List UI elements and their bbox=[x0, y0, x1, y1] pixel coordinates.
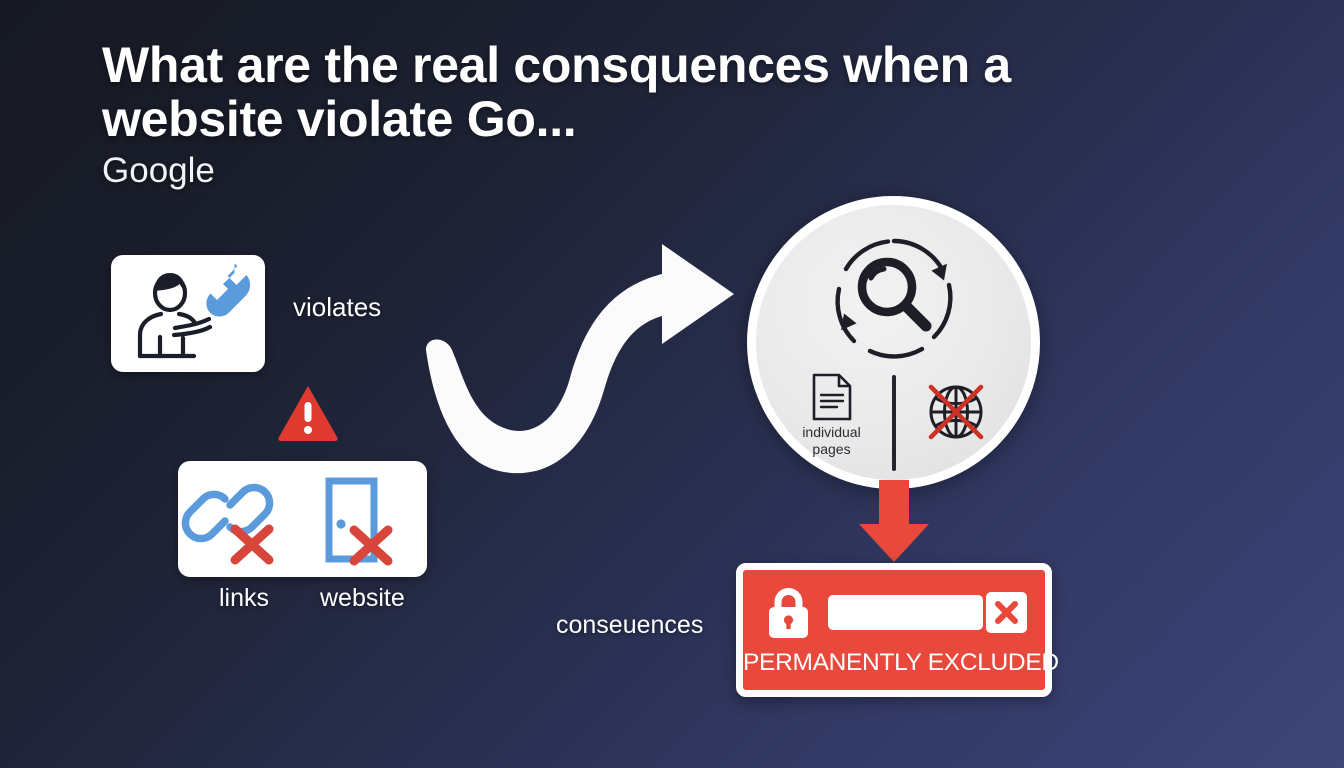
consequences-label: conseuences bbox=[556, 611, 703, 640]
page-title: What are the real consquences when a web… bbox=[102, 38, 1192, 146]
circle-bottom-row: individual pages bbox=[756, 373, 1031, 483]
slide-canvas: What are the real consquences when a web… bbox=[0, 0, 1344, 768]
link-cross-icon bbox=[235, 529, 269, 560]
pages-caption-line1: individual bbox=[802, 424, 860, 440]
exclusion-banner: PERMANENTLY EXCLUDED bbox=[736, 563, 1052, 697]
title-block: What are the real consquences when a web… bbox=[102, 38, 1192, 190]
links-label: links bbox=[219, 584, 269, 613]
pages-caption-line2: pages bbox=[812, 441, 850, 457]
blocked-site-group bbox=[908, 373, 1004, 445]
individual-pages-group: individual pages bbox=[784, 373, 880, 458]
padlock-icon bbox=[765, 585, 812, 639]
individual-pages-caption: individual pages bbox=[802, 424, 860, 458]
red-x-icon bbox=[994, 600, 1019, 625]
exclusion-banner-text: PERMANENTLY EXCLUDED bbox=[743, 649, 1045, 677]
technician-card bbox=[111, 255, 265, 372]
search-index-circle: individual pages bbox=[747, 196, 1040, 489]
search-recrawl-icon bbox=[830, 233, 958, 361]
curved-flow-arrow bbox=[412, 232, 752, 492]
website-label: website bbox=[320, 584, 405, 613]
links-website-card bbox=[178, 461, 427, 577]
red-down-arrow bbox=[855, 480, 933, 564]
banner-url-bar bbox=[828, 595, 983, 630]
banner-x-box bbox=[986, 592, 1027, 633]
door-knob-icon bbox=[336, 519, 345, 528]
broken-link-icon bbox=[185, 487, 269, 538]
page-subtitle: Google bbox=[102, 152, 1192, 190]
globe-crossed-out-icon bbox=[923, 379, 989, 445]
banner-row bbox=[765, 584, 1027, 640]
warning-triangle-icon bbox=[277, 383, 339, 443]
person-with-wrench-icon bbox=[111, 255, 265, 372]
wrench-icon bbox=[206, 264, 250, 317]
violates-label: violates bbox=[293, 292, 381, 323]
document-icon bbox=[811, 373, 853, 421]
circle-divider bbox=[892, 375, 896, 471]
